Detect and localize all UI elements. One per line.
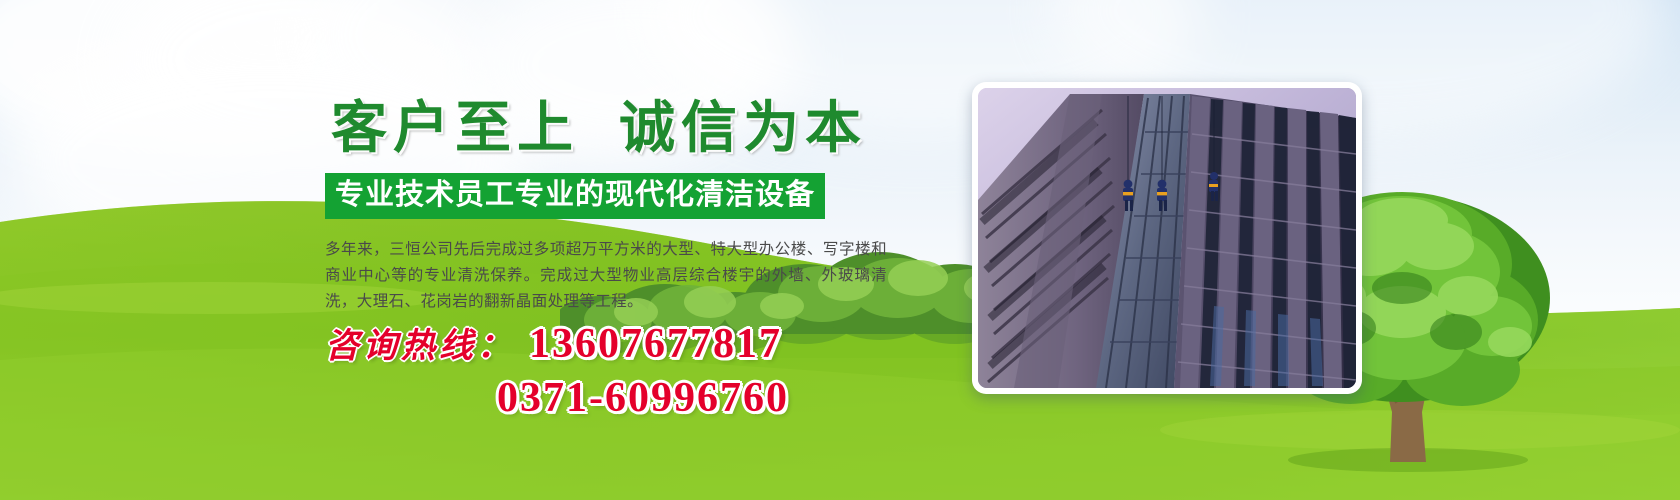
description-paragraph: 多年来，三恒公司先后完成过多项超万平方米的大型、特大型办公楼、写字楼和商业中心等… bbox=[325, 237, 887, 315]
contact-block: 咨询热线： 13607677817 0371-60996760 bbox=[325, 318, 925, 422]
phone-number-primary[interactable]: 13607677817 bbox=[529, 320, 782, 368]
promo-banner: 客户至上 诚信为本 专业技术员工专业的现代化清洁设备 多年来，三恒公司先后完成过… bbox=[0, 0, 1680, 500]
subtitle-bar: 专业技术员工专业的现代化清洁设备 bbox=[325, 173, 825, 219]
hotline-row-secondary: 0371-60996760 bbox=[325, 374, 925, 422]
building-photo bbox=[978, 88, 1356, 388]
hotline-row-primary: 咨询热线： 13607677817 bbox=[325, 318, 925, 368]
copy-block: 客户至上 诚信为本 专业技术员工专业的现代化清洁设备 多年来，三恒公司先后完成过… bbox=[325, 100, 905, 315]
hotline-label: 咨询热线： bbox=[325, 318, 515, 367]
phone-number-secondary[interactable]: 0371-60996760 bbox=[497, 374, 789, 422]
photo-frame bbox=[972, 82, 1362, 394]
headline: 客户至上 诚信为本 bbox=[331, 100, 905, 159]
